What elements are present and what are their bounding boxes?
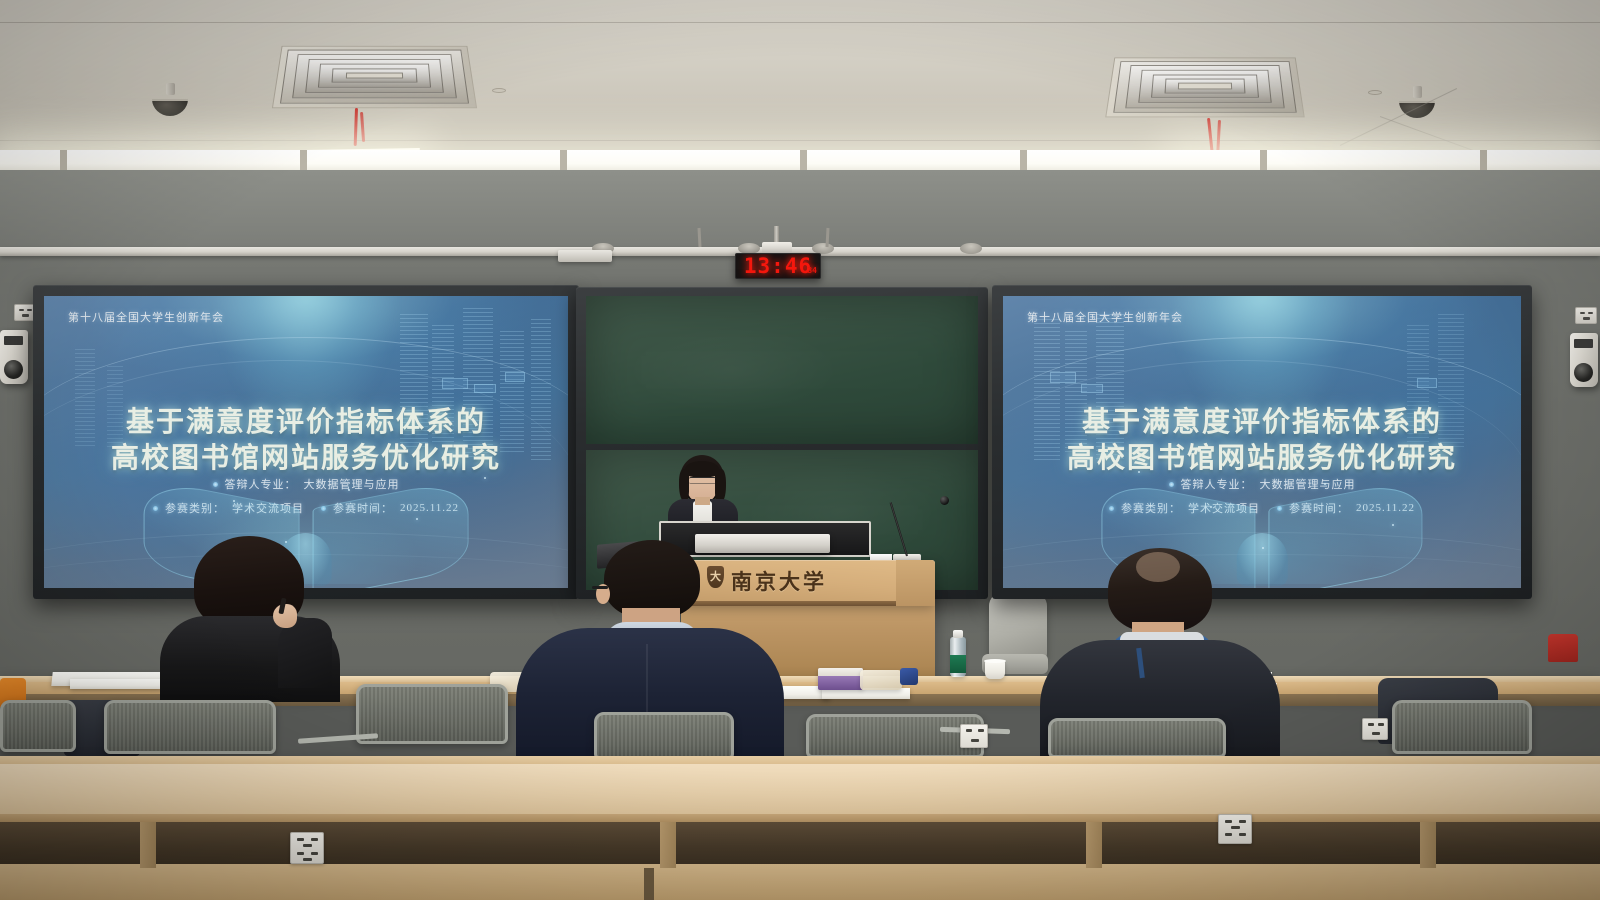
presenter-hair-front [685, 461, 719, 477]
snack-box [818, 668, 863, 690]
presenter-neck [695, 497, 710, 505]
audience-right-collar-white [1120, 632, 1204, 640]
led-wall-clock: 13:46 34 [735, 253, 821, 279]
desk-power-outlet-4[interactable] [1362, 718, 1388, 740]
chair-6[interactable] [1048, 718, 1226, 758]
blue-pack-center [900, 668, 918, 685]
chair-1[interactable] [0, 700, 76, 752]
chair-2[interactable] [104, 700, 276, 754]
desk-power-outlet-1[interactable] [290, 832, 324, 864]
audience-center-glasses-arm [592, 586, 608, 589]
office-chair-backrest[interactable] [989, 592, 1047, 662]
front-desk-shelf [0, 864, 1600, 900]
audience-left-hand [273, 604, 297, 628]
slide-header-right: 第十八届全国大学生创新年会 [1027, 309, 1183, 325]
slide-title-line1-right: 基于满意度评价指标体系的 [1003, 400, 1521, 440]
smoke-detector-right [1368, 90, 1382, 95]
sprinkler-right [1413, 86, 1422, 98]
blackboard-upper [586, 296, 978, 444]
audience-left [160, 536, 340, 700]
water-bottle-right[interactable] [950, 637, 966, 677]
audience-center-hair [604, 540, 700, 618]
right-projection-screen[interactable]: 第十八届全国大学生创新年会 基于满意度评价指标体系的 高校图书馆网站服务优化研究… [1003, 296, 1521, 588]
desk-power-outlet-2[interactable] [960, 724, 988, 748]
presenter-glasses [689, 477, 716, 484]
clock-seconds-display: 34 [807, 266, 817, 275]
wall-speaker-left [0, 330, 28, 384]
chair-7[interactable] [1392, 700, 1532, 754]
snack-pack-center [860, 670, 902, 690]
front-desk-seam [644, 868, 654, 900]
ac-diffuser-left [272, 46, 477, 108]
sprinkler-left [166, 83, 175, 95]
desk-power-outlet-3[interactable] [1218, 814, 1252, 844]
smoke-detector-left [492, 88, 506, 93]
wall-outlet-right[interactable] [1575, 307, 1597, 324]
front-desk-leg-4 [1420, 822, 1436, 868]
front-desk-leg-3 [1086, 822, 1102, 868]
ac-diffuser-right [1105, 58, 1305, 118]
projector-mount-box [558, 250, 612, 262]
clock-time-display: 13:46 [744, 256, 812, 277]
lecture-hall-scene: 13:46 34 第十八届全国大学生创新年会 [0, 0, 1600, 900]
audience-right-scalp [1136, 552, 1180, 582]
wall-speaker-right [1570, 333, 1598, 387]
paper-cup-right[interactable] [985, 661, 1005, 679]
mic-head-icon [940, 496, 949, 505]
front-desk-leg-1 [140, 822, 156, 868]
back-wall-upper [0, 170, 1600, 250]
front-desk-leg-2 [660, 822, 676, 868]
audience-left-arm [278, 618, 332, 688]
presenter-hair-side-left [679, 469, 689, 501]
chair-3[interactable] [356, 684, 508, 744]
red-pack-right [1548, 634, 1578, 662]
chair-5[interactable] [806, 714, 984, 758]
slide-header-left: 第十八届全国大学生创新年会 [68, 309, 224, 325]
front-desk-cavity [0, 822, 1600, 868]
presenter-hair-side-right [715, 469, 726, 503]
paper-stack-2 [70, 679, 166, 689]
slide-title-line1-left: 基于满意度评价指标体系的 [44, 400, 568, 440]
front-desk-face [0, 764, 1600, 818]
chair-4[interactable] [594, 712, 734, 760]
